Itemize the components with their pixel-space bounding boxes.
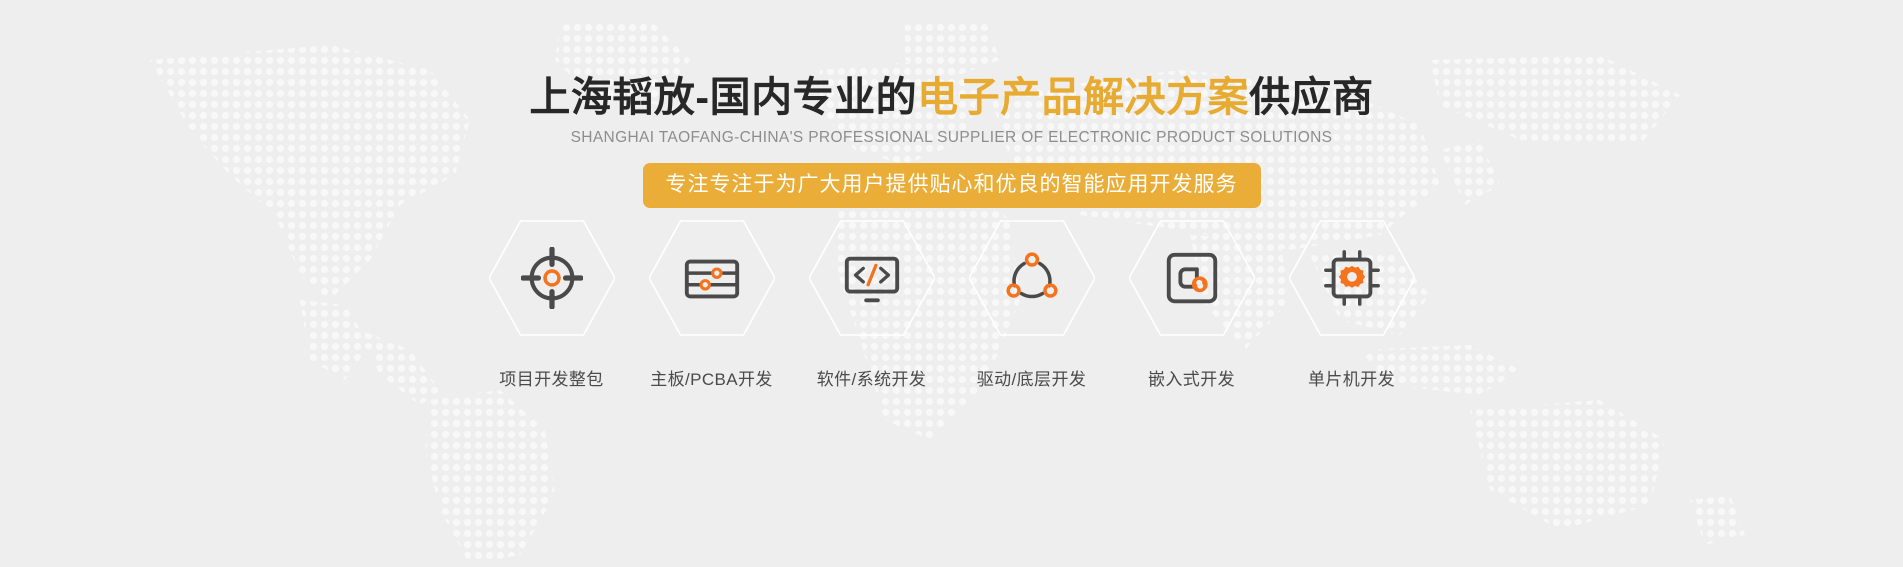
headline-trail: 供应商: [1249, 74, 1374, 120]
feature-item-embedded[interactable]: 嵌入式开发: [1129, 215, 1255, 390]
hexagon-frame: [809, 215, 935, 341]
hexagon-frame: [489, 215, 615, 341]
feature-label: 软件/系统开发: [817, 365, 927, 390]
feature-item-pcba[interactable]: 主板/PCBA开发: [649, 215, 775, 390]
target-crosshair-icon: [521, 247, 583, 309]
hexagon-frame: [1289, 215, 1415, 341]
feature-label: 主板/PCBA开发: [650, 365, 773, 390]
headline-lead: 上海韬放-国内专业的: [529, 74, 917, 120]
hexagon-frame: [1129, 215, 1255, 341]
circuit-board-icon: [681, 247, 743, 309]
feature-item-driver-lowlevel[interactable]: 驱动/底层开发: [969, 215, 1095, 390]
headline-accent: 电子产品解决方案: [917, 74, 1249, 120]
feature-list: 项目开发整包 主板/PCBA开发: [0, 215, 1903, 390]
microcontroller-gear-icon: [1321, 247, 1383, 309]
monitor-code-icon: [841, 247, 903, 309]
subtitle-english: SHANGHAI TAOFANG-CHINA'S PROFESSIONAL SU…: [0, 129, 1903, 147]
node-network-icon: [1001, 247, 1063, 309]
feature-label: 项目开发整包: [499, 365, 603, 390]
feature-item-software-system[interactable]: 软件/系统开发: [809, 215, 935, 390]
feature-item-mcu[interactable]: 单片机开发: [1289, 215, 1415, 390]
hero-banner: 上海韬放-国内专业的电子产品解决方案供应商 SHANGHAI TAOFANG-C…: [0, 0, 1903, 567]
feature-label: 驱动/底层开发: [977, 365, 1087, 390]
headline-block: 上海韬放-国内专业的电子产品解决方案供应商 SHANGHAI TAOFANG-C…: [0, 72, 1903, 208]
feature-item-project-package[interactable]: 项目开发整包: [489, 215, 615, 390]
badge-row: 专注专注于为广大用户提供贴心和优良的智能应用开发服务: [0, 163, 1903, 208]
tagline-badge: 专注专注于为广大用户提供贴心和优良的智能应用开发服务: [643, 163, 1261, 208]
hexagon-frame: [969, 215, 1095, 341]
feature-label: 嵌入式开发: [1148, 365, 1235, 390]
page-title: 上海韬放-国内专业的电子产品解决方案供应商: [0, 72, 1903, 122]
embedded-chip-link-icon: [1161, 247, 1223, 309]
hexagon-frame: [649, 215, 775, 341]
feature-label: 单片机开发: [1308, 365, 1395, 390]
